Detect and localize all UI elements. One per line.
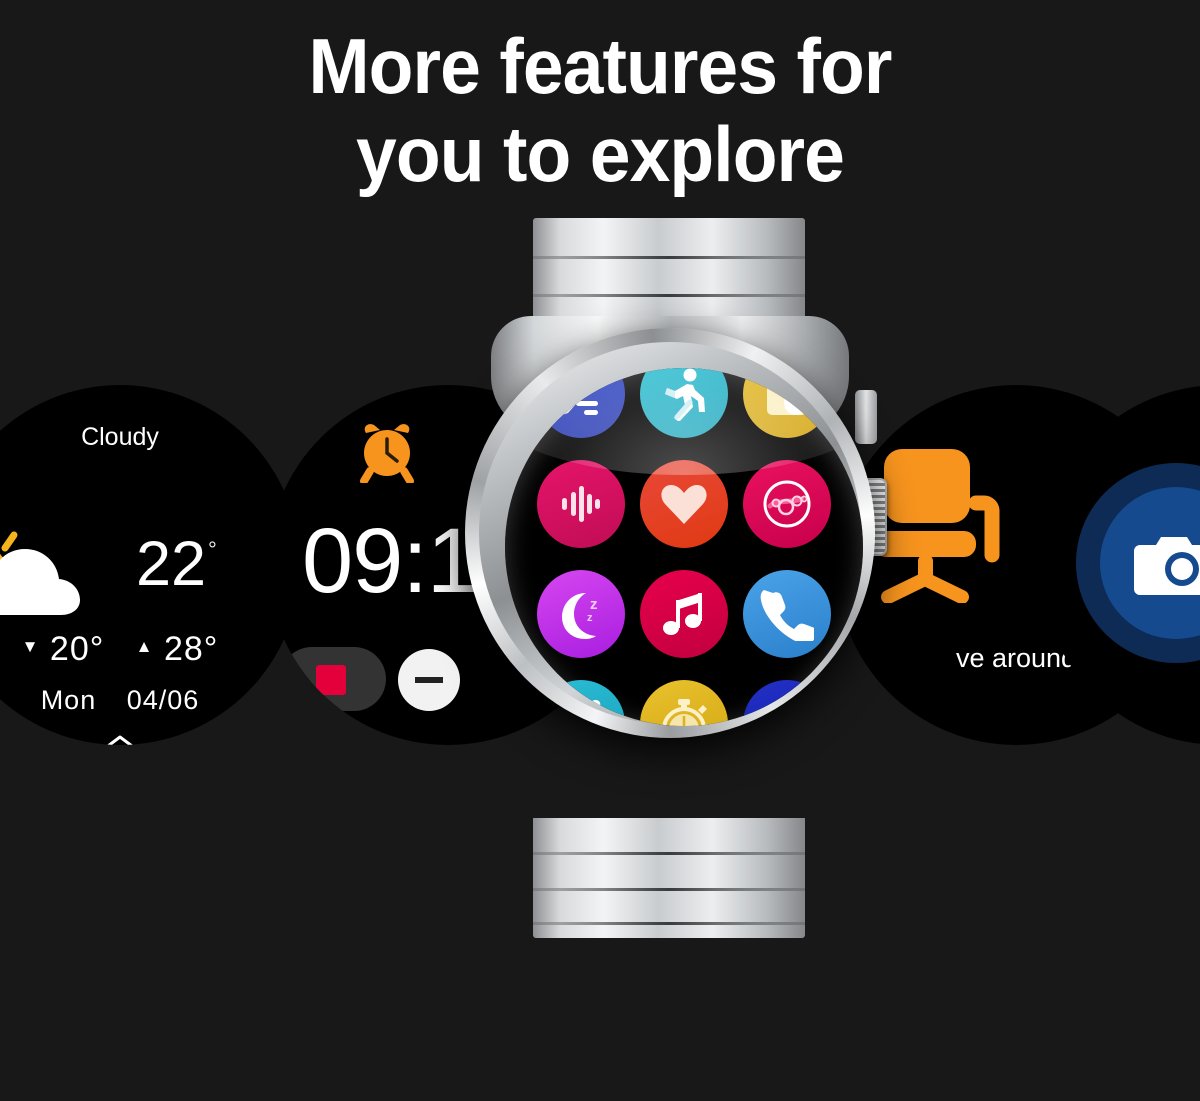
weather-degree-symbol: ° [208,537,217,563]
app-icon-stopwatch[interactable] [640,680,728,726]
app-icon-sleep[interactable]: zz [537,570,625,658]
camera-icon [1134,531,1200,597]
app-icon-heart-rate[interactable] [640,460,728,548]
app-grid: zz [505,368,863,726]
app-icon-voice[interactable] [537,460,625,548]
app-icon-calendar[interactable] [743,368,831,438]
low-arrow-icon: ▼ [22,637,40,657]
watch-case: zz [465,328,875,738]
music-note-icon [657,587,711,641]
smartwatch-device[interactable]: zz [455,218,885,898]
alarm-clock-icon [356,421,418,483]
voice-wave-icon [554,477,608,531]
app-icon-workout[interactable] [640,368,728,438]
weather-condition-label: Cloudy [0,423,300,452]
message-pencil-icon [554,368,608,421]
pause-button[interactable] [398,649,460,711]
stop-button[interactable] [280,647,386,711]
phone-icon [760,587,814,641]
weather-range: ▼ 20° ▲ 28° [0,630,300,669]
watch-screen[interactable]: zz [505,368,863,726]
clock-time: 09:1 [302,515,477,607]
stop-square-icon [316,665,346,695]
heart-icon [657,477,711,531]
weather-weekday: Mon [41,685,97,715]
app-icon-phone[interactable] [743,570,831,658]
weather-temperature: 22 [136,533,206,596]
camera-inner-circle [1100,487,1200,639]
weather-high: 28° [164,630,218,668]
calendar-icon [760,368,814,421]
svg-text:z: z [587,612,593,624]
stopwatch-icon [657,697,711,726]
sun-cloud-icon [0,519,90,629]
alarm-bell-icon [554,697,608,726]
high-arrow-icon: ▲ [136,637,154,657]
weather-watch-face[interactable]: Cloudy 22 ° ▼ 20° ▲ 28° Mon 0 [0,385,300,745]
page-title: More features for you to explore [36,22,1164,198]
app-icon-messages[interactable] [537,368,625,438]
camera-outer-ring [1076,463,1200,663]
svg-text:z: z [590,596,598,613]
weather-date-row: Mon 04/06 [0,685,300,716]
weather-low: 20° [50,630,104,668]
running-person-icon [657,368,711,421]
pause-icon [415,677,443,683]
chevron-up-icon[interactable] [0,730,300,745]
weather-date: 04/06 [127,685,200,715]
moon-zzz-icon: zz [554,587,608,641]
app-icon-compass[interactable] [743,680,831,726]
app-icon-blood-oxygen[interactable] [743,460,831,548]
watch-band-bottom [533,818,805,938]
app-icon-music[interactable] [640,570,728,658]
app-icon-alarm[interactable] [537,680,625,726]
promo-banner: More features for you to explore Cloudy … [0,0,1200,1101]
blood-oxygen-icon [760,477,814,531]
watch-bezel: zz [479,342,861,724]
compass-icon [760,697,814,726]
